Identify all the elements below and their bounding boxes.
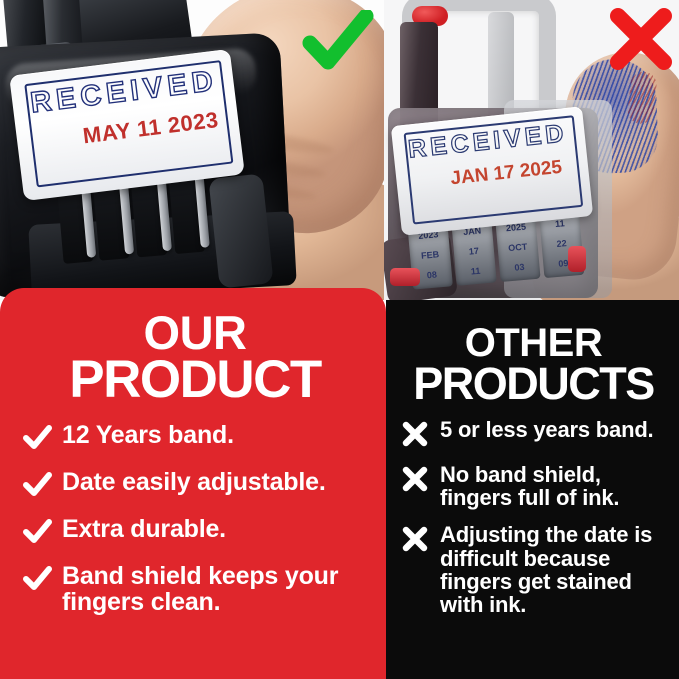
list-item-label: Adjusting the date is difficult because …: [440, 523, 667, 616]
list-item: Date easily adjustable.: [22, 469, 368, 500]
check-icon: [22, 564, 52, 594]
cross-icon: [400, 464, 430, 494]
comparison-infographic: RECEIVED MAY 11 2023 2023FEB08 JAN1711: [0, 0, 679, 679]
cross-icon: [608, 8, 674, 70]
check-icon: [22, 517, 52, 547]
list-item-label: Band shield keeps your fingers clean.: [62, 563, 368, 616]
headline-line-2: PRODUCTS: [400, 362, 667, 405]
headline-line-1: OTHER: [400, 324, 667, 362]
cross-icon: [400, 524, 430, 554]
list-item: Band shield keeps your fingers clean.: [22, 563, 368, 616]
our-product-bullet-list: 12 Years band. Date easily adjustable. E…: [22, 422, 368, 616]
check-icon: [22, 470, 52, 500]
other-products-bullet-list: 5 or less years band. No band shield, fi…: [400, 418, 667, 617]
list-item: Adjusting the date is difficult because …: [400, 523, 667, 616]
our-product-headline: OUR PRODUCT: [22, 310, 368, 406]
our-product-panel: OUR PRODUCT 12 Years band. Date easily a: [0, 288, 386, 679]
band-knob-right: [568, 246, 586, 272]
list-item: 5 or less years band.: [400, 418, 667, 449]
list-item: No band shield, fingers full of ink.: [400, 463, 667, 510]
photo-strip: RECEIVED MAY 11 2023 2023FEB08 JAN1711: [0, 0, 679, 300]
stamp-label: RECEIVED JAN 17 2025: [391, 106, 593, 235]
list-item: Extra durable.: [22, 516, 368, 547]
other-products-headline: OTHER PRODUCTS: [400, 324, 667, 406]
list-item-label: No band shield, fingers full of ink.: [440, 463, 667, 510]
check-icon: [22, 423, 52, 453]
list-item-label: Extra durable.: [62, 516, 226, 543]
list-item-label: 5 or less years band.: [440, 418, 653, 441]
other-products-panel: OTHER PRODUCTS 5 or less years band. No: [386, 300, 679, 679]
cross-icon: [400, 419, 430, 449]
list-item-label: Date easily adjustable.: [62, 469, 326, 496]
stamp-band-shield-label: RECEIVED MAY 11 2023: [9, 49, 245, 201]
list-item-label: 12 Years band.: [62, 422, 234, 449]
band-knob-left: [390, 268, 420, 286]
check-icon: [302, 10, 374, 72]
headline-line-2: PRODUCT: [22, 355, 368, 406]
list-item: 12 Years band.: [22, 422, 368, 453]
headline-line-1: OUR: [22, 310, 368, 355]
